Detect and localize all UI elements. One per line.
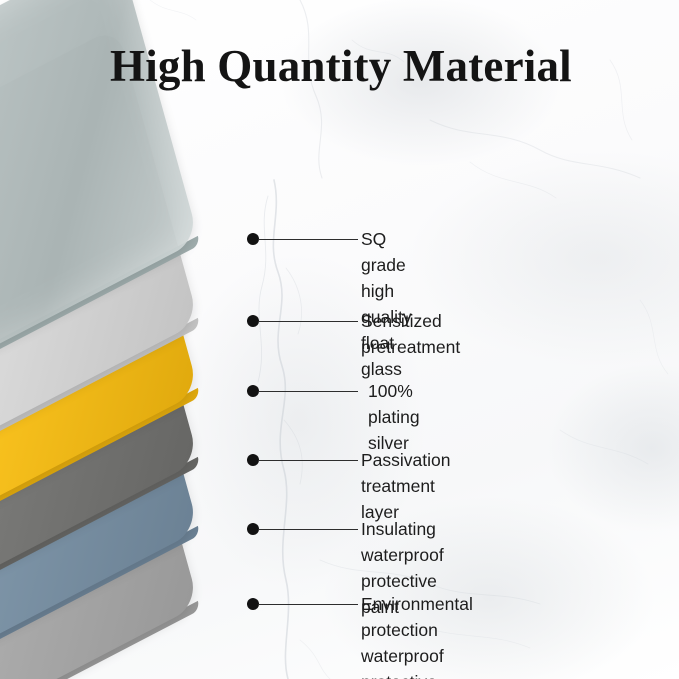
material-layers-infographic: High Quantity Material SQ grade high qua… bbox=[0, 0, 679, 679]
callout-leader-4 bbox=[258, 460, 358, 461]
callout-leader-3 bbox=[258, 391, 358, 392]
callout-label-4: Passivation treatment layer bbox=[361, 447, 451, 525]
callout-label-3: 100% plating silver bbox=[368, 378, 420, 456]
callout-leader-5 bbox=[258, 529, 358, 530]
callout-label-6: Environmental protection waterproof prot… bbox=[361, 591, 473, 679]
callout-leader-2 bbox=[258, 321, 358, 322]
callout-leader-1 bbox=[258, 239, 358, 240]
callout-label-2: Sensitized pretreatment bbox=[361, 308, 460, 360]
callout-leader-6 bbox=[258, 604, 358, 605]
callout-group: SQ grade high quality float glass Sensit… bbox=[0, 0, 679, 679]
